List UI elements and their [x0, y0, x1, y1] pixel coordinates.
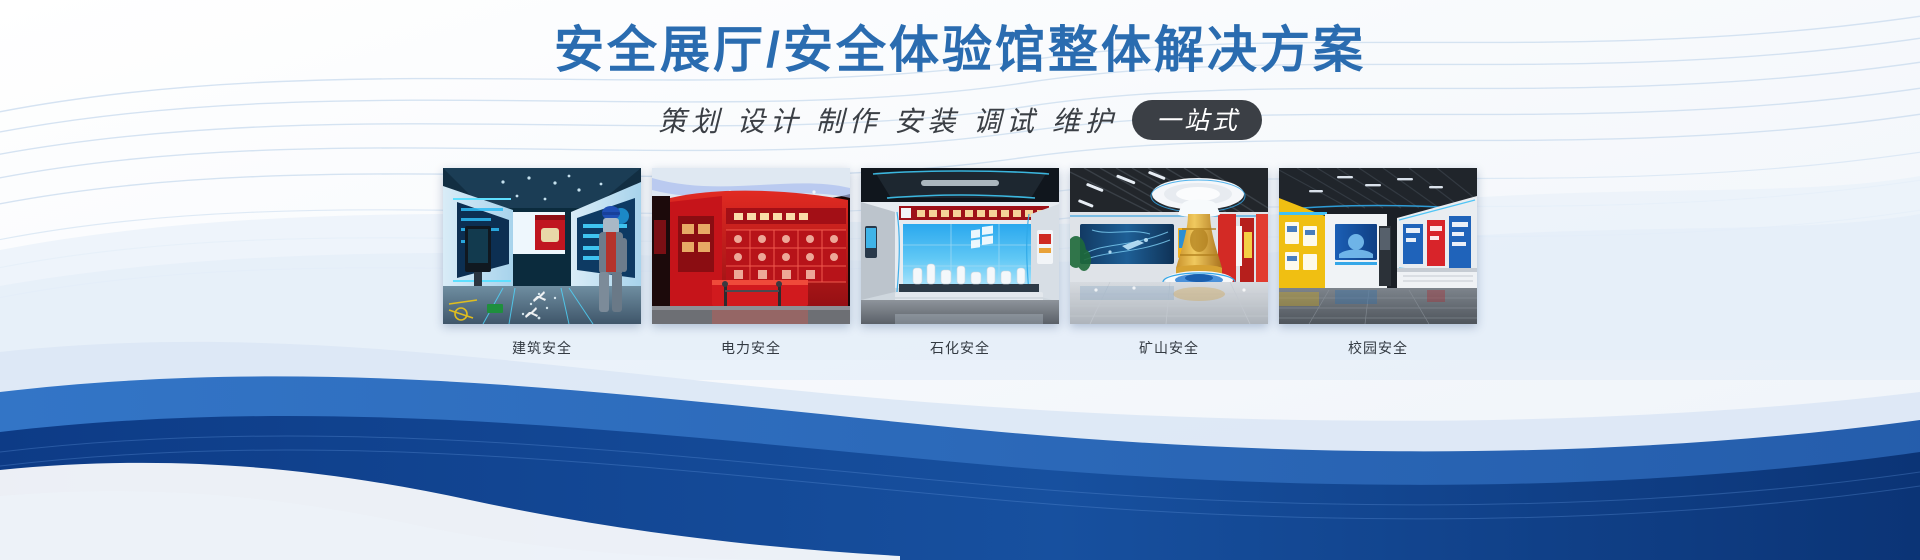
caption-petrochemical: 石化安全 — [930, 338, 990, 358]
gallery-item-campus[interactable]: 校园安全 — [1279, 168, 1477, 358]
thumbnail-petrochemical[interactable] — [861, 168, 1059, 324]
caption-campus: 校园安全 — [1348, 338, 1408, 358]
headline-area: 安全展厅/安全体验馆整体解决方案 — [0, 22, 1920, 80]
one-stop-badge: 一站式 — [1132, 100, 1262, 140]
caption-power: 电力安全 — [721, 338, 781, 358]
campus-hall-image — [1279, 168, 1477, 324]
thumbnail-campus[interactable] — [1279, 168, 1477, 324]
banner-root: 安全展厅/安全体验馆整体解决方案 策划 设计 制作 安装 调试 维护 一站式 — [0, 0, 1920, 560]
gallery-item-mining[interactable]: 矿山安全 — [1070, 168, 1268, 358]
thumbnail-mining[interactable] — [1070, 168, 1268, 324]
petrochemical-hall-image — [861, 168, 1059, 324]
gallery-item-petrochemical[interactable]: 石化安全 — [861, 168, 1059, 358]
gallery-item-construction[interactable]: 建筑安全 — [443, 168, 641, 358]
thumbnail-construction[interactable] — [443, 168, 641, 324]
caption-mining: 矿山安全 — [1139, 338, 1199, 358]
thumbnail-power[interactable] — [652, 168, 850, 324]
page-title: 安全展厅/安全体验馆整体解决方案 — [0, 22, 1920, 80]
service-steps-text: 策划 设计 制作 安装 调试 维护 — [658, 100, 1118, 140]
construction-hall-image — [443, 168, 641, 324]
subtitle-area: 策划 设计 制作 安装 调试 维护 一站式 — [0, 100, 1920, 140]
gallery-item-power[interactable]: 电力安全 — [652, 168, 850, 358]
mining-hall-image — [1070, 168, 1268, 324]
caption-construction: 建筑安全 — [512, 338, 572, 358]
power-hall-image — [652, 168, 850, 324]
gallery: 建筑安全 — [0, 168, 1920, 358]
